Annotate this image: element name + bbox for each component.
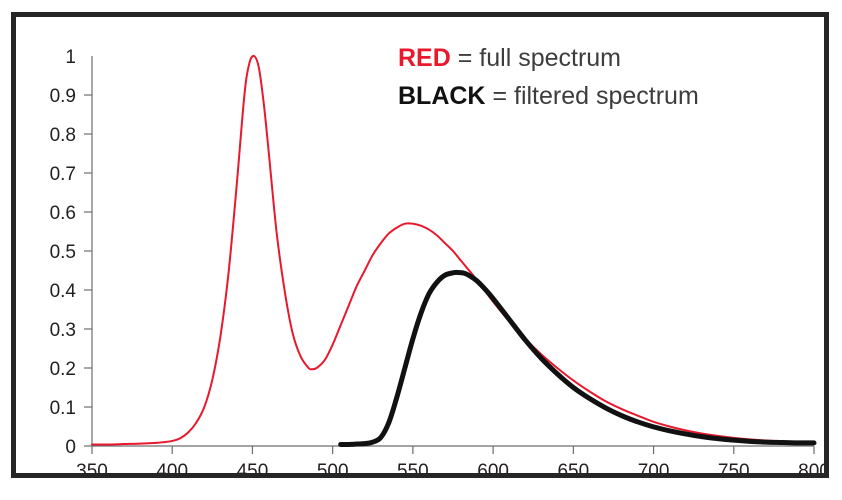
legend-text-red: full spectrum xyxy=(479,44,621,72)
legend-text-black: filtered spectrum xyxy=(514,82,699,110)
y-tick-label: 0.6 xyxy=(50,203,76,224)
legend-key-black: BLACK xyxy=(398,82,486,110)
y-tick-label: 0.1 xyxy=(50,398,76,419)
y-tick-label: 0 xyxy=(65,437,76,458)
y-tick-label: 0.5 xyxy=(50,242,76,263)
legend-entry-red: RED = full spectrum xyxy=(398,39,828,77)
y-tick-label: 0.3 xyxy=(50,320,76,341)
x-tick-label: 450 xyxy=(237,461,269,473)
y-tick-label: 0.7 xyxy=(50,164,76,185)
x-tick-label: 650 xyxy=(557,461,589,473)
spectrum-figure: 35040045050055060065070075080000.10.20.3… xyxy=(0,0,842,500)
legend-separator-red: = xyxy=(451,44,480,72)
legend-separator-black: = xyxy=(486,82,515,110)
x-tick-label: 700 xyxy=(638,461,670,473)
x-tick-label: 550 xyxy=(397,461,429,473)
y-tick-label: 0.4 xyxy=(50,281,77,302)
x-tick-label: 800 xyxy=(798,461,824,473)
x-tick-label: 500 xyxy=(317,461,349,473)
x-tick-label: 600 xyxy=(477,461,509,473)
x-tick-label: 400 xyxy=(156,461,188,473)
x-tick-label: 750 xyxy=(718,461,750,473)
y-tick-label: 1 xyxy=(65,47,76,68)
y-tick-label: 0.8 xyxy=(50,125,76,146)
y-tick-label: 0.9 xyxy=(50,86,76,107)
chart-frame: 35040045050055060065070075080000.10.20.3… xyxy=(11,12,829,478)
legend-key-red: RED xyxy=(398,44,451,72)
series-line-filtered-spectrum xyxy=(341,272,814,444)
y-tick-label: 0.2 xyxy=(50,359,76,380)
chart-legend: RED = full spectrum BLACK = filtered spe… xyxy=(398,39,828,115)
x-tick-label: 350 xyxy=(76,461,108,473)
legend-entry-black: BLACK = filtered spectrum xyxy=(398,77,828,115)
